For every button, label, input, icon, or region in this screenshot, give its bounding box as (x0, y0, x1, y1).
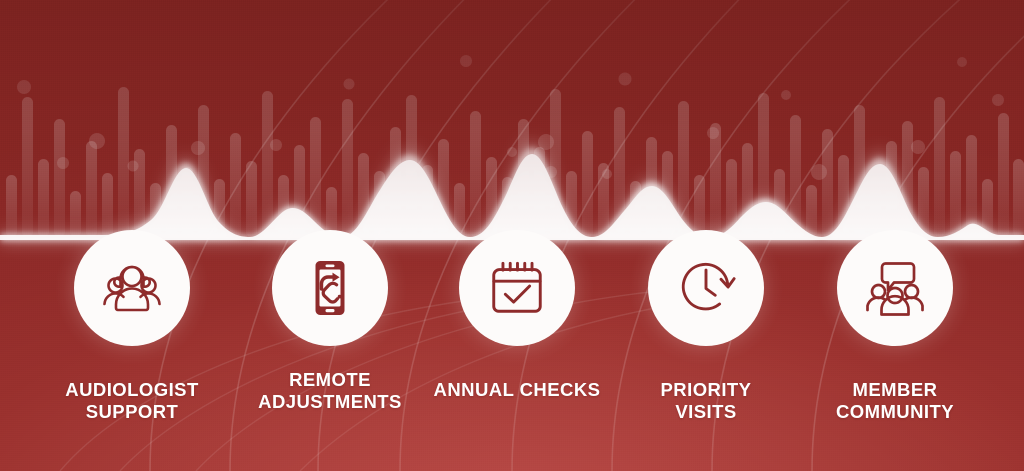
calendar-check-icon (486, 257, 548, 319)
icon-disc[interactable] (459, 230, 575, 346)
feature-caption: ANNUAL CHECKS (407, 379, 627, 401)
icon-disc[interactable] (648, 230, 764, 346)
clock-arrow-icon (675, 257, 737, 319)
feature-list: AUDIOLOGIST SUPPORT (0, 0, 1024, 471)
icon-disc[interactable] (74, 230, 190, 346)
icon-disc[interactable] (837, 230, 953, 346)
membership-benefits-banner: AUDIOLOGIST SUPPORT (0, 0, 1024, 471)
feature-caption: PRIORITY VISITS (606, 379, 806, 422)
people-speech-bubble-icon (863, 256, 927, 320)
feature-caption: REMOTE ADJUSTMENTS (230, 369, 430, 412)
feature-caption: MEMBER COMMUNITY (795, 379, 995, 422)
headset-support-people-icon (100, 256, 164, 320)
icon-disc[interactable] (272, 230, 388, 346)
feature-caption: AUDIOLOGIST SUPPORT (32, 379, 232, 422)
phone-rotate-hearing-aid-icon (298, 256, 362, 320)
